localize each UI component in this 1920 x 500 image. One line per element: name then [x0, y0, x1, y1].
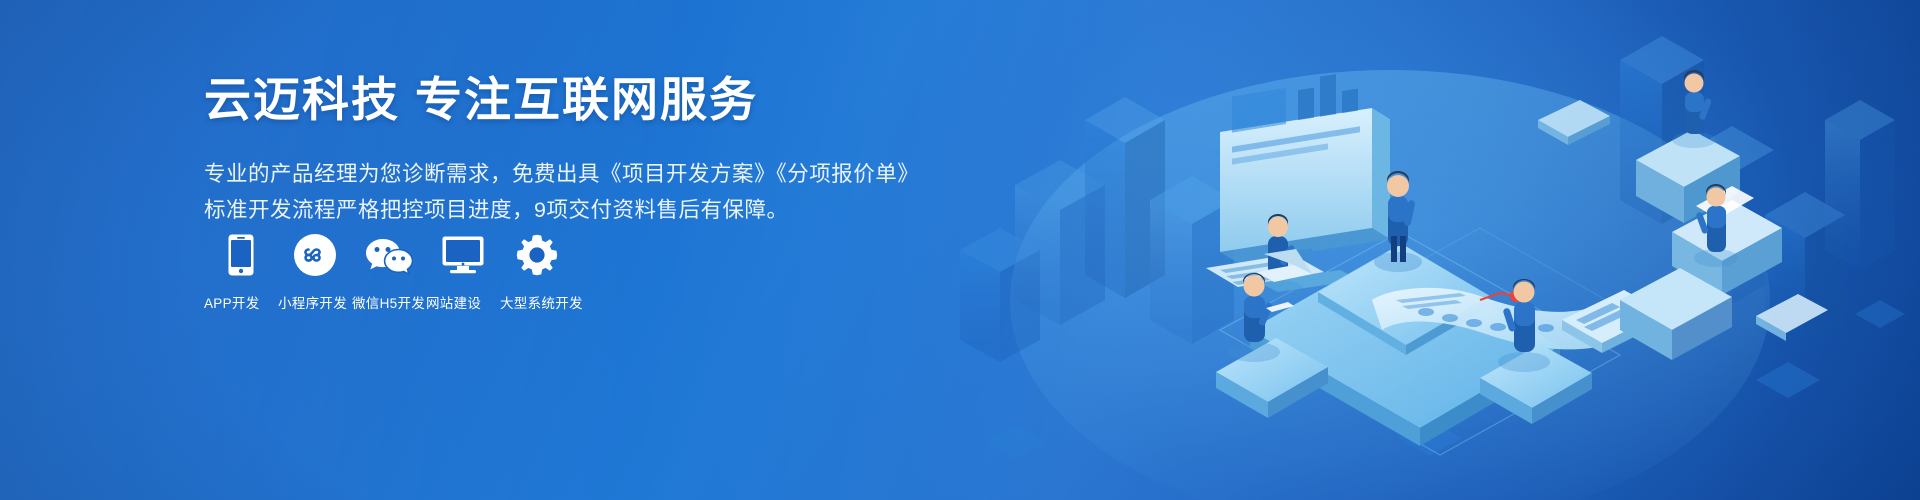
hero-illustration — [920, 0, 1920, 500]
figure-left-seated — [1252, 214, 1312, 300]
figure-front-left — [1228, 273, 1294, 362]
monitor-icon — [442, 232, 484, 278]
hero-banner: 云迈科技 专注互联网服务 专业的产品经理为您诊断需求，免费出具《项目开发方案》《… — [0, 0, 1920, 500]
figure-right-upper — [1672, 70, 1716, 148]
mini-program-icon — [294, 232, 336, 278]
figure-front-right — [1498, 279, 1550, 372]
service-label-enterprise-system: 大型系统开发 — [500, 292, 574, 312]
hero-subtitle-line-2: 标准开发流程严格把控项目进度，9项交付资料售后有保障。 — [204, 192, 924, 228]
wechat-icon — [365, 232, 413, 278]
hero-copy: 云迈科技 专注互联网服务 专业的产品经理为您诊断需求，免费出具《项目开发方案》《… — [204, 72, 924, 228]
service-item-mini-program[interactable]: 小程序开发 — [278, 232, 352, 312]
service-item-enterprise-system[interactable]: 大型系统开发 — [500, 232, 574, 312]
gear-icon — [516, 232, 558, 278]
figure-right-lower — [1694, 184, 1738, 267]
mobile-phone-icon — [228, 232, 254, 278]
page-title: 云迈科技 专注互联网服务 — [204, 72, 924, 128]
service-label-website: 网站建设 — [426, 292, 500, 312]
service-label-app: APP开发 — [204, 292, 278, 312]
service-item-website[interactable]: 网站建设 — [426, 232, 500, 312]
hero-subtitle-line-1: 专业的产品经理为您诊断需求，免费出具《项目开发方案》《分项报价单》 — [204, 156, 924, 192]
service-label-wechat-h5: 微信H5开发 — [352, 292, 426, 312]
service-label-mini-program: 小程序开发 — [278, 292, 352, 312]
service-item-app[interactable]: APP开发 — [204, 232, 278, 312]
figure-center — [1374, 171, 1422, 272]
service-item-wechat-h5[interactable]: 微信H5开发 — [352, 232, 426, 312]
service-list: APP开发 小程序开发 — [204, 232, 574, 312]
